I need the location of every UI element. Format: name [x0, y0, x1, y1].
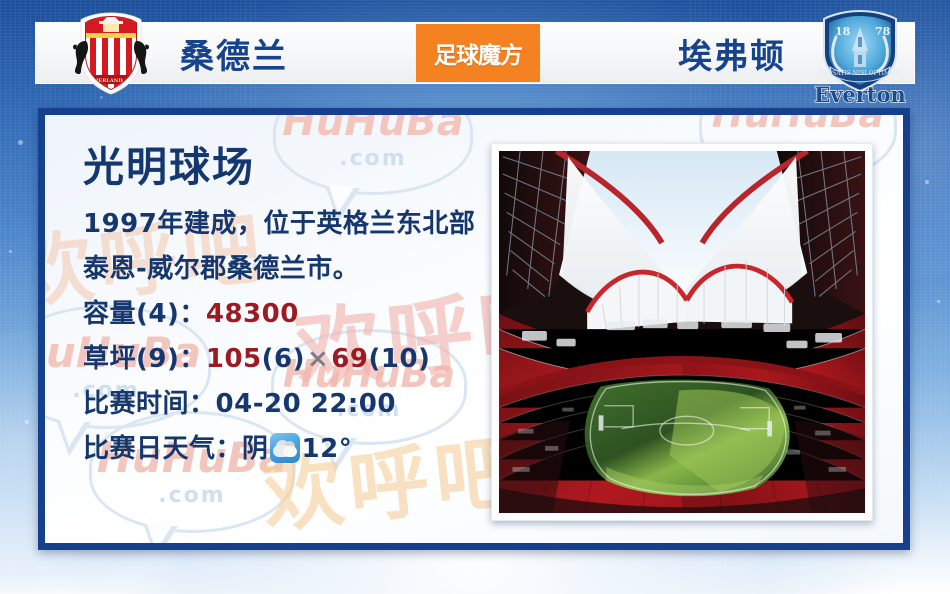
- stadium-title: 光明球场: [83, 145, 475, 190]
- stadium-capacity-row: 容量(4)：48300: [83, 292, 475, 337]
- everton-wordmark: Everton: [814, 82, 906, 105]
- stadium-photo-frame[interactable]: [491, 143, 873, 521]
- everton-crest: 18 78 NIL SATIS NISI OPTIMUM Everton: [806, 7, 914, 105]
- kickoff-value: 04-20 22:00: [216, 389, 396, 419]
- weather-condition: 阴: [242, 434, 269, 464]
- pitch-label: 草坪(9)：: [83, 344, 206, 374]
- pitch-length-rank: (6): [262, 344, 305, 374]
- stadium-text-block: 光明球场 1997年建成，位于英格兰东北部 泰恩-威尔郡桑德兰市。 容量(4)：…: [83, 145, 475, 472]
- site-logo[interactable]: 足球魔方: [416, 24, 540, 82]
- everton-year-left: 18: [835, 25, 851, 38]
- background-dot: [18, 140, 23, 145]
- stadium-weather-row: 比赛日天气：阴12°: [83, 427, 475, 472]
- capacity-label: 容量(4)：: [83, 299, 206, 329]
- everton-year-right: 78: [875, 25, 891, 38]
- sunderland-crest: SUNDERLAND A.F.C.: [68, 11, 154, 95]
- stadium-photo: [499, 151, 865, 513]
- background-dot: [937, 300, 940, 303]
- stadium-pitch-row: 草坪(9)：105(6)×69(10): [83, 337, 475, 382]
- weather-label: 比赛日天气：: [83, 434, 242, 464]
- center-brand-block: 足球魔方: [413, 24, 543, 82]
- match-header-bar: SUNDERLAND A.F.C. 桑德兰 足球魔方 埃弗顿: [35, 22, 915, 84]
- away-team-name: 埃弗顿: [678, 29, 786, 78]
- background-dot: [9, 250, 12, 253]
- pitch-width: 69: [331, 344, 368, 374]
- away-team-block: 埃弗顿: [543, 1, 914, 105]
- capacity-value: 48300: [206, 299, 299, 329]
- site-logo-text: 足球魔方: [434, 36, 522, 70]
- stadium-description-line-1: 1997年建成，位于英格兰东北部: [83, 202, 475, 247]
- pitch-times-symbol: ×: [305, 344, 331, 374]
- svg-text:NIL SATIS NISI OPTIMUM: NIL SATIS NISI OPTIMUM: [819, 70, 902, 77]
- background-dot: [925, 180, 929, 184]
- cloudy-icon: [270, 433, 300, 463]
- stadium-kickoff-row: 比赛时间：04-20 22:00: [83, 382, 475, 427]
- home-team-block: SUNDERLAND A.F.C. 桑德兰: [36, 11, 413, 95]
- background-dot: [100, 96, 103, 99]
- pitch-length: 105: [206, 344, 262, 374]
- weather-temperature: 12°: [302, 434, 353, 464]
- pitch-width-rank: (10): [368, 344, 430, 374]
- watermark-bubble-main: HuHuBa: [282, 115, 463, 142]
- background-dot: [25, 420, 29, 424]
- watermark-bubble-main: HuHuBa: [712, 115, 884, 133]
- watermark-bubble-tail: [144, 526, 178, 543]
- home-team-name: 桑德兰: [180, 29, 288, 78]
- kickoff-label: 比赛时间：: [83, 389, 216, 419]
- watermark-bubble-sub: .com: [158, 485, 225, 507]
- stadium-description-line-2: 泰恩-威尔郡桑德兰市。: [83, 247, 475, 292]
- stadium-info-panel: HuHuBa .com HuHuBa .com HuHuBa .com HuHu…: [38, 108, 910, 550]
